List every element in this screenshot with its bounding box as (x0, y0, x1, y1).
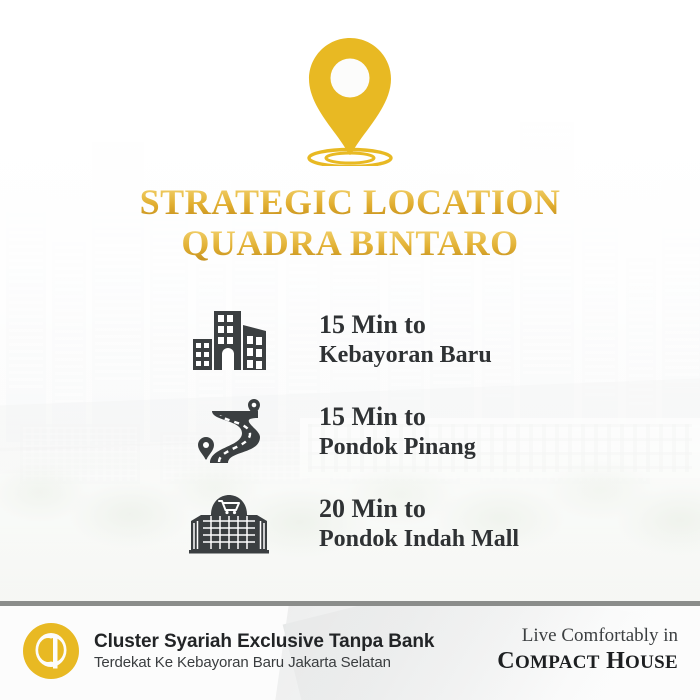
map-pin-icon (302, 34, 398, 166)
brand-c: C (497, 648, 515, 674)
footer-subline: Terdekat Ke Kebayoran Baru Jakarta Selat… (94, 653, 434, 673)
promo-poster: STRATEGIC LOCATION QUADRA BINTARO (0, 0, 700, 700)
distance-place: Pondok Indah Mall (319, 524, 519, 554)
footer-left-group: Cluster Syariah Exclusive Tanpa Bank Ter… (22, 622, 434, 680)
list-item: 15 Min to Kebayoran Baru (183, 298, 613, 382)
poster-content: STRATEGIC LOCATION QUADRA BINTARO (0, 0, 700, 700)
footer-bar: Cluster Syariah Exclusive Tanpa Bank Ter… (0, 606, 700, 700)
winding-road-icon (183, 399, 275, 465)
distance-time: 15 Min to (319, 310, 492, 340)
list-item-text: 20 Min to Pondok Indah Mall (275, 494, 519, 554)
list-item-text: 15 Min to Kebayoran Baru (275, 310, 492, 370)
footer-headline: Cluster Syariah Exclusive Tanpa Bank (94, 630, 434, 653)
brand-h: H (606, 648, 625, 674)
quadra-q-logo-icon (22, 622, 80, 680)
footer-right-group: Live Comfortably in COMPACT HOUSE (497, 624, 678, 677)
distance-list: 15 Min to Kebayoran Baru (183, 298, 613, 574)
title-line-1: STRATEGIC LOCATION (0, 182, 700, 222)
office-buildings-icon (183, 309, 275, 371)
distance-time: 15 Min to (319, 402, 476, 432)
distance-place: Kebayoran Baru (319, 340, 492, 370)
distance-time: 20 Min to (319, 494, 519, 524)
brand-ouse: OUSE (625, 652, 678, 673)
title-line-2: QUADRA BINTARO (0, 222, 700, 264)
distance-place: Pondok Pinang (319, 432, 476, 462)
shopping-mall-icon (183, 493, 275, 555)
footer-brand: COMPACT HOUSE (497, 647, 678, 677)
list-item: 20 Min to Pondok Indah Mall (183, 482, 613, 566)
footer-tagline: Live Comfortably in (497, 624, 678, 647)
list-item: 15 Min to Pondok Pinang (183, 390, 613, 474)
brand-ompact: OMPACT (515, 652, 600, 673)
footer-text-block: Cluster Syariah Exclusive Tanpa Bank Ter… (94, 630, 434, 673)
poster-title: STRATEGIC LOCATION QUADRA BINTARO (0, 182, 700, 264)
list-item-text: 15 Min to Pondok Pinang (275, 402, 476, 462)
hero-pin-wrapper (0, 34, 700, 166)
